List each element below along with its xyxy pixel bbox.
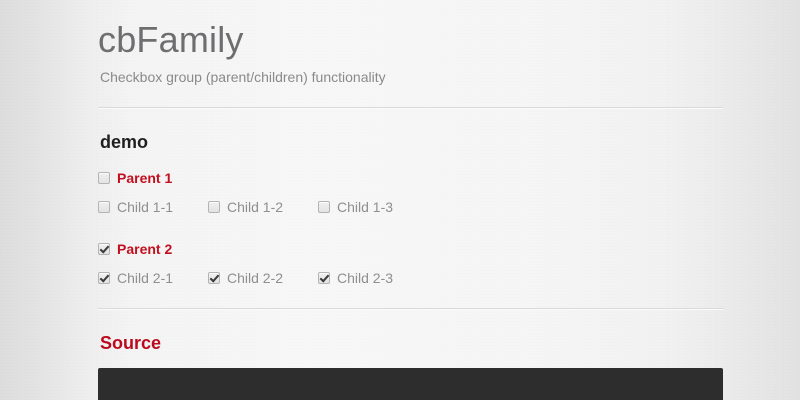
checkbox-checked-icon[interactable]	[318, 272, 330, 284]
checkbox-item-child-2-1[interactable]: Child 2-1	[98, 267, 184, 289]
checkbox-unchecked-icon[interactable]	[98, 172, 110, 184]
checkbox-label-child-2-1: Child 2-1	[117, 269, 173, 287]
source-divider	[98, 308, 723, 310]
checkbox-checked-icon[interactable]	[208, 272, 220, 284]
checkbox-item-child-1-3[interactable]: Child 1-3	[318, 196, 404, 218]
demo-section: demo Parent 1 Child 1-1 Chil	[98, 109, 723, 289]
children-row-1: Child 1-1 Child 1-2 Child 1-3	[98, 196, 723, 218]
checkbox-group-2: Parent 2 Child 2-1 Child 2-2 Child 2-3	[98, 238, 723, 289]
parent-row-2: Parent 2	[98, 238, 723, 260]
checkbox-checked-icon[interactable]	[98, 272, 110, 284]
checkbox-item-child-1-2[interactable]: Child 1-2	[208, 196, 294, 218]
source-heading: Source	[100, 332, 723, 354]
checkbox-item-parent-1[interactable]: Parent 1	[98, 167, 172, 189]
checkbox-label-child-2-3: Child 2-3	[337, 269, 393, 287]
demo-heading: demo	[100, 131, 723, 153]
checkbox-label-child-1-1: Child 1-1	[117, 198, 173, 216]
checkbox-item-parent-2[interactable]: Parent 2	[98, 238, 172, 260]
source-code-block[interactable]	[98, 368, 723, 400]
page-title: cbFamily	[98, 18, 723, 62]
parent-row-1: Parent 1	[98, 167, 723, 189]
checkbox-unchecked-icon[interactable]	[318, 201, 330, 213]
children-row-2: Child 2-1 Child 2-2 Child 2-3	[98, 267, 723, 289]
page-tagline: Checkbox group (parent/children) functio…	[100, 68, 723, 86]
page-root: cbFamily Checkbox group (parent/children…	[0, 0, 800, 400]
checkbox-group-1: Parent 1 Child 1-1 Child 1-2 Child 1-3	[98, 167, 723, 218]
checkbox-unchecked-icon[interactable]	[208, 201, 220, 213]
checkbox-item-child-2-2[interactable]: Child 2-2	[208, 267, 294, 289]
checkbox-label-parent-2: Parent 2	[117, 240, 172, 258]
checkbox-unchecked-icon[interactable]	[98, 201, 110, 213]
checkbox-item-child-2-3[interactable]: Child 2-3	[318, 267, 404, 289]
page-header: cbFamily Checkbox group (parent/children…	[98, 18, 723, 86]
checkbox-label-child-2-2: Child 2-2	[227, 269, 283, 287]
content-wrapper: cbFamily Checkbox group (parent/children…	[98, 0, 723, 400]
source-section: Source	[98, 332, 723, 400]
checkbox-item-child-1-1[interactable]: Child 1-1	[98, 196, 184, 218]
checkbox-label-child-1-2: Child 1-2	[227, 198, 283, 216]
checkbox-label-parent-1: Parent 1	[117, 169, 172, 187]
checkbox-label-child-1-3: Child 1-3	[337, 198, 393, 216]
checkbox-checked-icon[interactable]	[98, 243, 110, 255]
